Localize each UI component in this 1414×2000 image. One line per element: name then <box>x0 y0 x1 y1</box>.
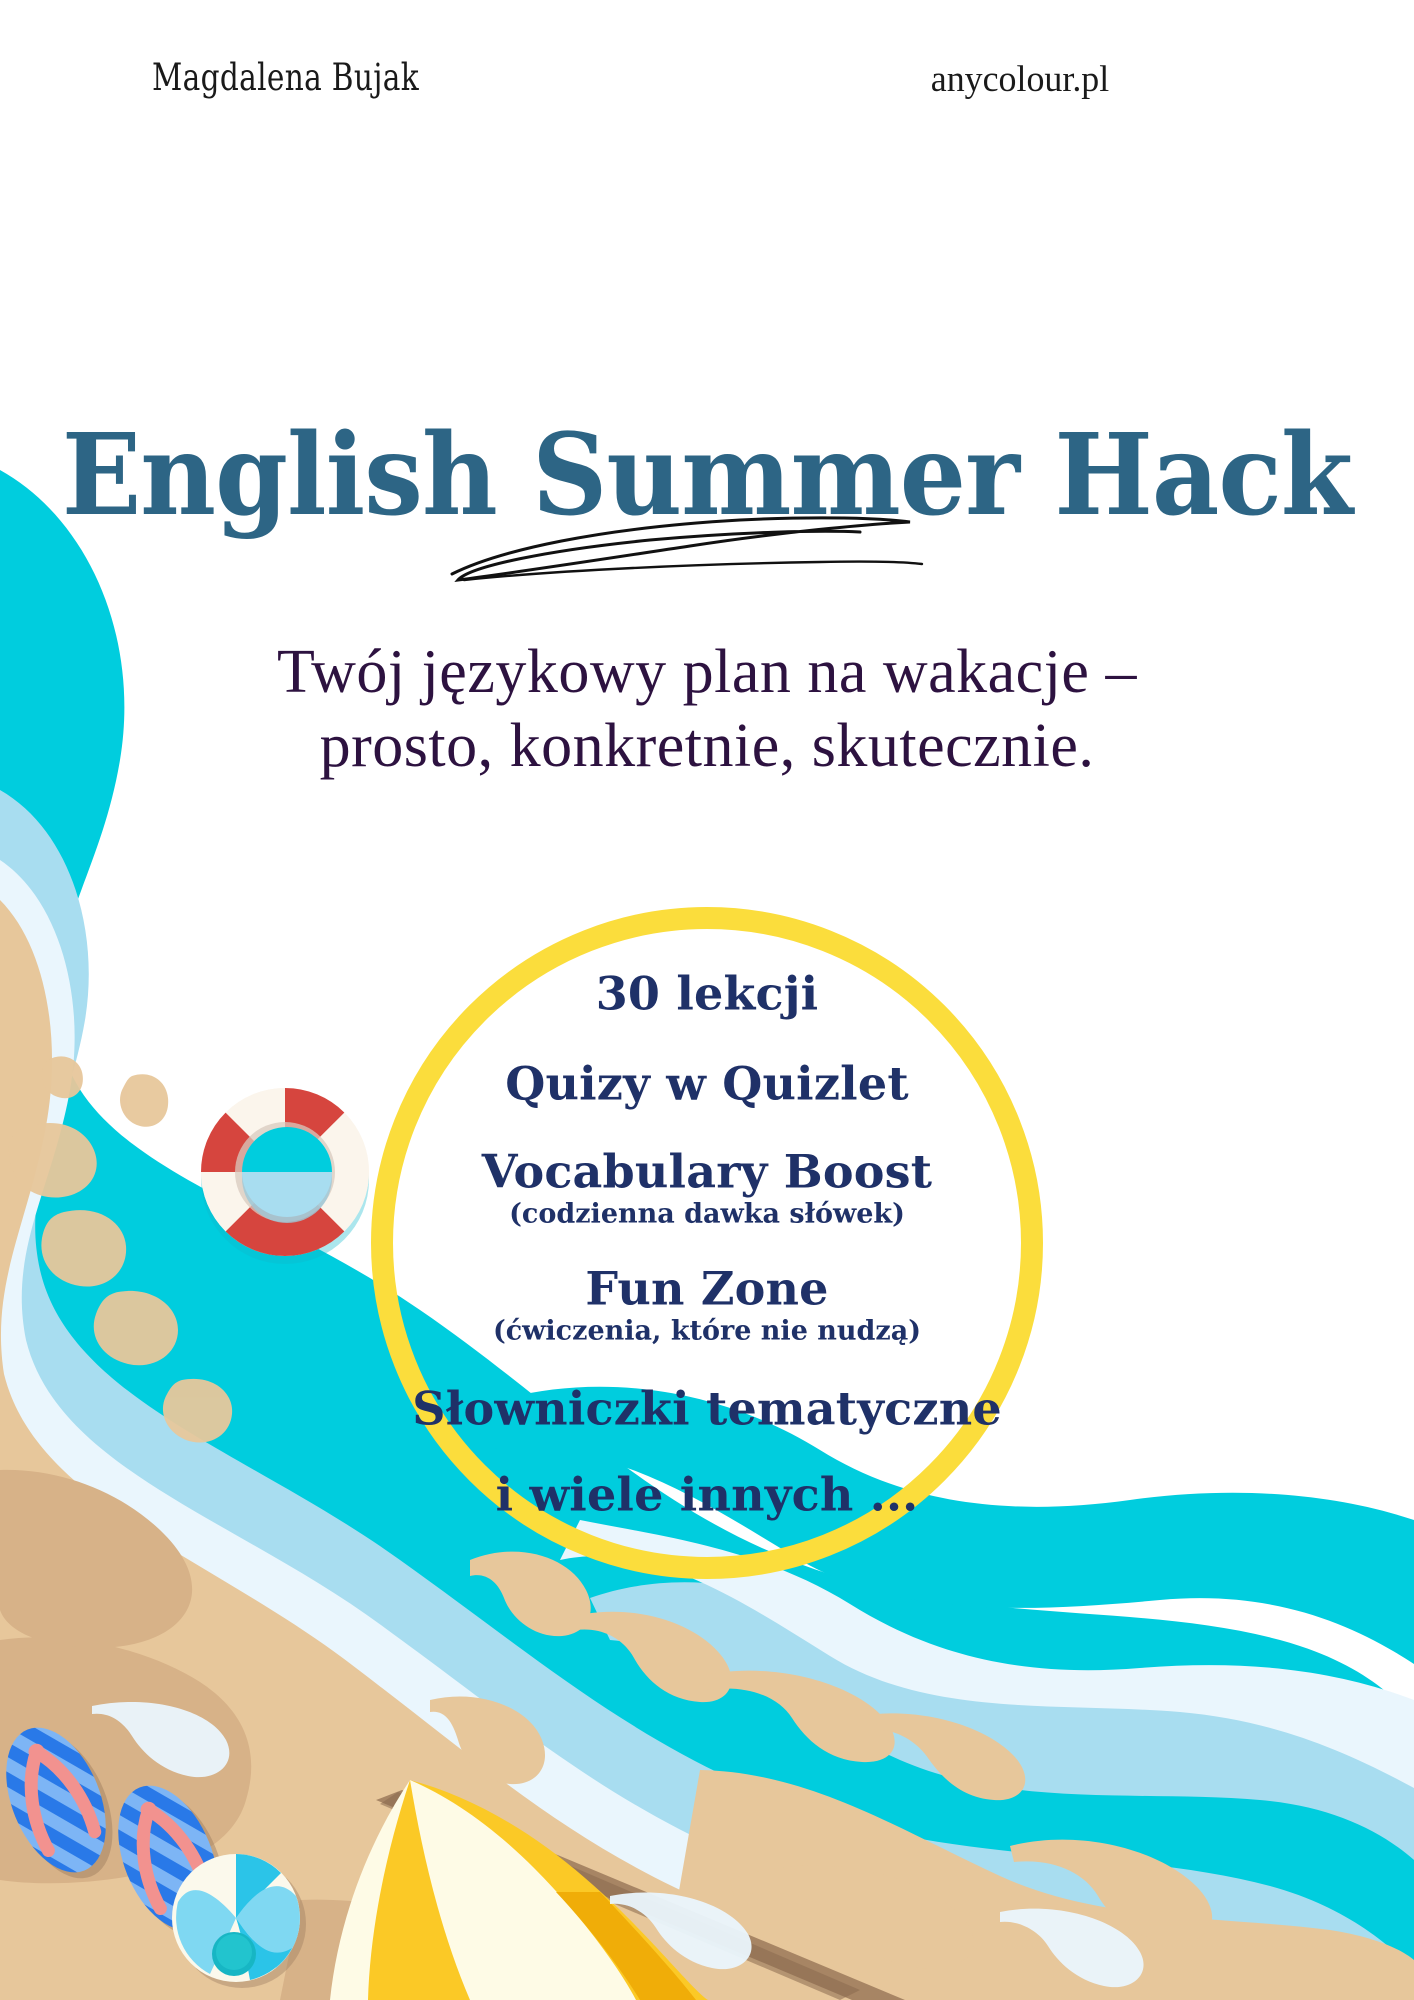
feature-title: Słowniczki tematyczne <box>347 1386 1067 1432</box>
feature-title: 30 lekcji <box>347 971 1067 1017</box>
website-label: anycolour.pl <box>931 58 1109 101</box>
feature-item: Quizy w Quizlet <box>347 1061 1067 1107</box>
beach-ball <box>172 1854 306 1988</box>
feature-item: i wiele innych ... <box>347 1472 1067 1518</box>
feature-item: Słowniczki tematyczne <box>347 1386 1067 1432</box>
feature-item: Fun Zone (ćwiczenia, które nie nudzą) <box>347 1265 1067 1352</box>
flip-flops <box>0 1712 244 1953</box>
feature-title: i wiele innych ... <box>347 1472 1067 1518</box>
feature-item: 30 lekcji <box>347 971 1067 1017</box>
subtitle-line-2: prosto, konkretnie, skutecznie. <box>0 710 1414 784</box>
feature-item: Vocabulary Boost (codzienna dawka słówek… <box>347 1149 1067 1236</box>
poster-header: Magdalena Bujak anycolour.pl <box>0 56 1414 116</box>
feature-subtitle: (ćwiczenia, które nie nudzą) <box>347 1311 1067 1352</box>
feature-title: Fun Zone <box>347 1265 1067 1311</box>
foam-wisps <box>92 1702 1144 1987</box>
feature-list: 30 lekcji Quizy w Quizlet Vocabulary Boo… <box>347 969 1067 1518</box>
subtitle-line-1: Twój językowy plan na wakacje – <box>0 636 1414 710</box>
feature-subtitle: (codzienna dawka słówek) <box>347 1195 1067 1236</box>
author-name: Magdalena Bujak <box>152 56 419 99</box>
beach-umbrella <box>330 1780 905 2000</box>
subtitle: Twój językowy plan na wakacje – prosto, … <box>0 636 1414 784</box>
feature-title: Quizy w Quizlet <box>347 1061 1067 1107</box>
poster-canvas: Magdalena Bujak anycolour.pl English Sum… <box>0 0 1414 2000</box>
lifebuoy <box>201 1088 369 1264</box>
feature-title: Vocabulary Boost <box>347 1149 1067 1195</box>
title-underline-swash <box>440 510 1000 590</box>
